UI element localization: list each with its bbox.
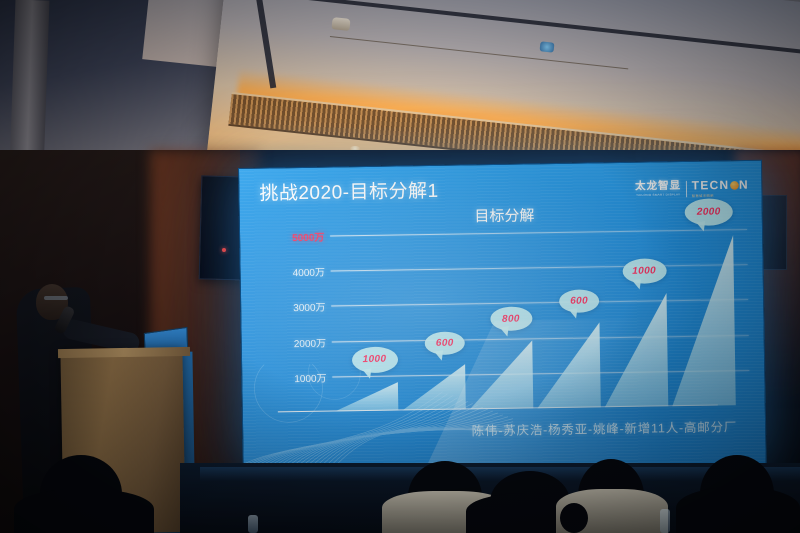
photo-scene: 挑战2020-目标分解1 太龙智显 TAILONG SMART DISPLAY … bbox=[0, 0, 800, 533]
logo-en-subtitle: 智慧城市照明 bbox=[692, 192, 749, 197]
audience-silhouettes bbox=[0, 428, 800, 533]
smoke-detector-icon bbox=[331, 17, 350, 31]
y-axis-tick-label: 4000万 bbox=[293, 264, 325, 280]
logo-english: TECN N 智慧城市照明 bbox=[692, 179, 749, 198]
chart-bar bbox=[536, 322, 601, 408]
logo-chinese: 太龙智显 TAILONG SMART DISPLAY bbox=[635, 181, 681, 197]
chart-title: 目标分解 bbox=[474, 204, 534, 226]
chart-value-bubble: 800 bbox=[490, 306, 532, 331]
chart-bar bbox=[670, 235, 736, 406]
y-axis-tick-label: 2000万 bbox=[294, 334, 326, 350]
chart-value-bubble: 1000 bbox=[622, 258, 666, 284]
logo-cn-name: 太龙智显 bbox=[635, 181, 681, 193]
logo-orange-dot-icon bbox=[730, 181, 739, 190]
presenter-glasses-icon bbox=[44, 296, 68, 300]
logo-cn-subtitle: TAILONG SMART DISPLAY bbox=[637, 193, 681, 197]
ceiling-sensor-icon bbox=[540, 41, 555, 52]
slide-title: 挑战2020-目标分解1 bbox=[259, 176, 439, 206]
audience-raised-hand bbox=[560, 503, 588, 533]
water-bottle bbox=[660, 509, 670, 533]
speaker-power-led-icon bbox=[222, 248, 226, 252]
audience-shoulders bbox=[14, 489, 154, 533]
logo-en-name: TECN N bbox=[692, 179, 749, 192]
water-bottle bbox=[248, 515, 258, 533]
logo-divider bbox=[686, 181, 687, 197]
logo-en-prefix: TECN bbox=[692, 179, 730, 192]
chart-bar bbox=[603, 293, 668, 407]
logo-en-suffix: N bbox=[739, 179, 749, 191]
chart-value-bubble: 2000 bbox=[685, 198, 733, 226]
company-logo: 太龙智显 TAILONG SMART DISPLAY TECN N 智慧城市照明 bbox=[635, 179, 749, 199]
y-axis-tick-label: 5000万 bbox=[292, 229, 324, 245]
audience-raised-hand bbox=[676, 499, 702, 533]
y-axis-tick-label: 3000万 bbox=[293, 299, 325, 315]
chart-value-bubble: 600 bbox=[425, 331, 465, 355]
